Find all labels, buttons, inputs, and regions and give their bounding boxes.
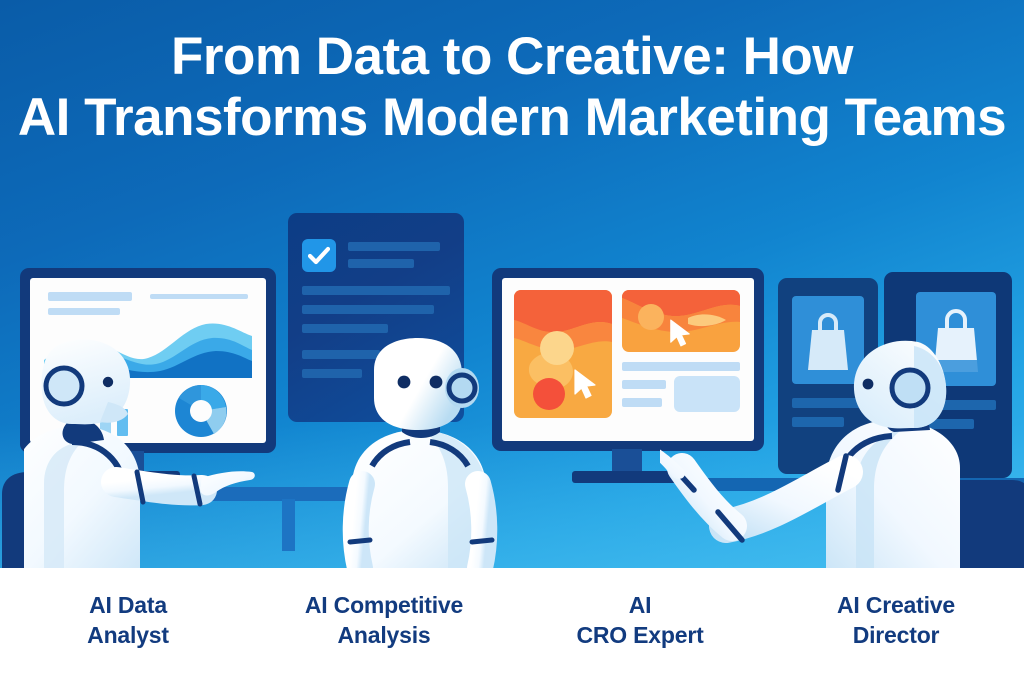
robot-eye-right [430,376,443,389]
robot-eye [103,377,113,387]
illustration-canvas: From Data to Creative: How AI Transforms… [0,0,1024,683]
creative-thumbnail-large[interactable] [514,290,612,418]
dashboard-header-bar-1 [48,292,132,301]
panel2-line-2 [348,259,414,268]
robot-eye-left [398,376,411,389]
role-label-line-2: Analysis [337,620,430,650]
robot-data-analyst [24,330,274,570]
role-label-line-1: AI [629,590,652,620]
robot-eye [863,379,874,390]
role-label-line-1: AI Data [89,590,167,620]
role-label-band: AI Data Analyst AI Competitive Analysis … [0,568,1024,683]
role-label-line-1: AI Creative [837,590,955,620]
panel2-line-4 [302,305,434,314]
role-label-line-2: Analyst [87,620,169,650]
dashboard-header-bar-3 [150,294,248,299]
panel2-line-5 [302,324,388,333]
desk-left-leg [282,499,295,551]
panel2-line-3 [302,286,450,295]
role-label-line-1: AI Competitive [305,590,463,620]
dashboard-header-bar-2 [48,308,120,315]
check-icon [308,246,330,266]
role-label-line-2: Director [853,620,940,650]
role-label-ai-cro-expert: AI CRO Expert [512,568,768,683]
role-label-line-2: CRO Expert [576,620,703,650]
robot-competitive-analyst [336,336,526,572]
role-label-ai-data-analyst: AI Data Analyst [0,568,256,683]
cursor-icon [572,368,598,400]
role-label-ai-creative-director: AI Creative Director [768,568,1024,683]
creative-text-line-3 [622,398,662,407]
checkbox-checked[interactable] [302,239,336,272]
robot-creative-director [660,340,960,572]
panel2-line-1 [348,242,440,251]
role-label-ai-competitive-analysis: AI Competitive Analysis [256,568,512,683]
